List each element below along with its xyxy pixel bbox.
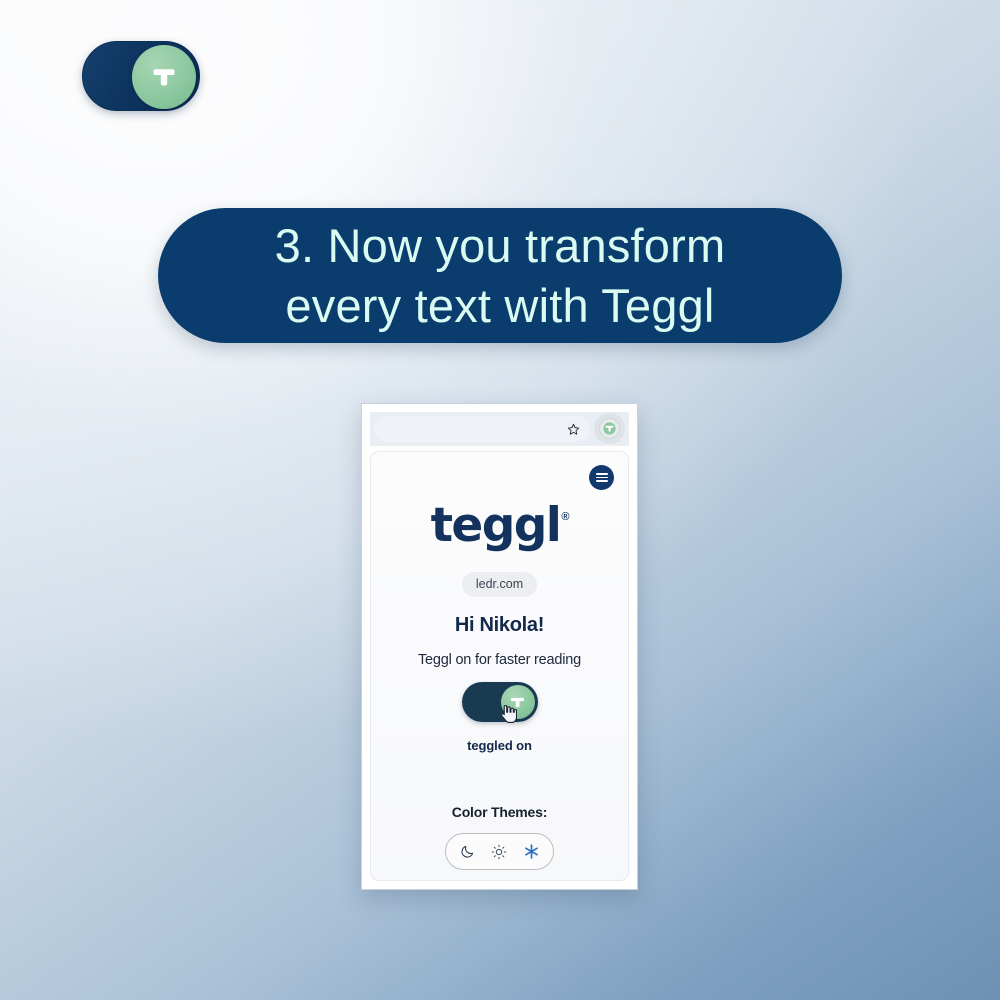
star-icon[interactable] [566,422,581,437]
color-themes-label: Color Themes: [371,804,628,820]
extension-icon-circle [599,418,620,439]
teggl-logo: teggl® [371,498,628,553]
teggl-enable-toggle[interactable] [462,682,538,722]
moon-icon [460,844,475,859]
brand-toggle-logo [82,41,200,111]
popup-subtitle: Teggl on for faster reading [371,652,628,668]
toggle-status-label: teggled on [371,738,628,753]
extension-popup-card: teggl® ledr.com Hi Nikola! Teggl on for … [370,451,629,881]
user-greeting: Hi Nikola! [371,614,628,637]
hamburger-menu-button[interactable] [589,465,614,490]
poster-canvas: 3. Now you transform every text with Teg… [0,0,1000,1000]
teggl-toggle-row [371,682,628,722]
headline-banner: 3. Now you transform every text with Teg… [158,208,842,343]
teggl-toggle-knob [501,685,535,719]
headline-line-2: every text with Teggl [285,276,714,336]
headline-line-1: 3. Now you transform [275,216,726,276]
registered-trademark-mark: ® [561,511,569,523]
theme-option-dark[interactable] [456,840,480,864]
asterisk-icon [523,843,540,860]
hamburger-menu-icon [596,471,608,485]
sun-icon [491,844,507,860]
extension-toolbar-button[interactable] [594,413,625,444]
current-domain-chip: ledr.com [462,572,537,597]
theme-option-blue[interactable] [519,840,543,864]
theme-option-light[interactable] [487,840,511,864]
address-bar[interactable] [374,416,590,442]
teggl-logo-text: teggl [431,498,561,553]
browser-toolbar [370,412,629,446]
teggl-t-icon [149,62,179,92]
teggl-t-icon [508,693,527,712]
brand-toggle-knob [132,45,196,109]
teggl-extension-icon [603,422,616,435]
browser-popup-mockup: teggl® ledr.com Hi Nikola! Teggl on for … [361,403,638,890]
color-theme-switcher[interactable] [445,833,554,870]
